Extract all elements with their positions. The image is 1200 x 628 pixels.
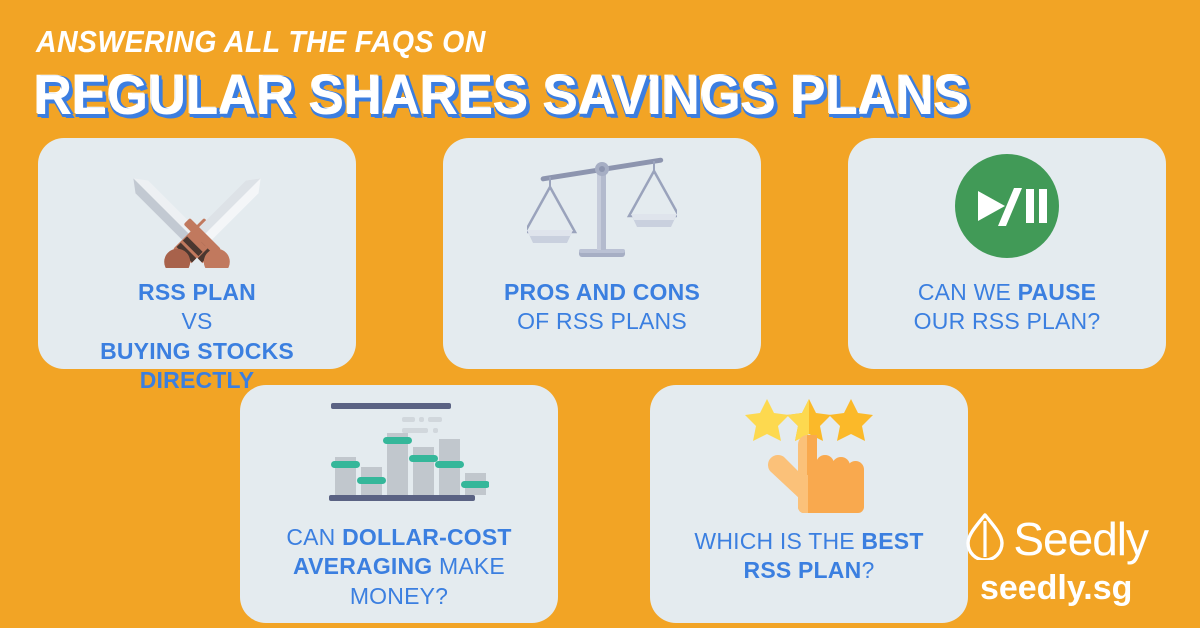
faq-card-rss-vs-stocks[interactable]: RSS PLAN VS BUYING STOCKS DIRECTLY bbox=[38, 138, 356, 369]
faq-card-best-plan[interactable]: WHICH IS THE BEST RSS PLAN? bbox=[650, 385, 968, 623]
card1-line2: VS bbox=[181, 308, 212, 334]
faq-card-label: RSS PLAN VS BUYING STOCKS DIRECTLY bbox=[88, 278, 306, 396]
seedly-leaf-icon bbox=[964, 512, 1006, 565]
card5-line2-emphasis: RSS PLAN bbox=[744, 557, 862, 583]
faq-card-pros-and-cons[interactable]: PROS AND CONS OF RSS PLANS bbox=[443, 138, 761, 369]
eyebrow-text: ANSWERING ALL THE FAQS ON bbox=[36, 24, 486, 60]
faq-card-pause-plan[interactable]: CAN WE PAUSE OUR RSS PLAN? bbox=[848, 138, 1166, 369]
faq-card-label: CAN DOLLAR-COST AVERAGING MAKE MONEY? bbox=[274, 523, 523, 611]
star-2 bbox=[787, 399, 831, 441]
card1-line1: RSS PLAN bbox=[138, 279, 256, 305]
card2-line1: PROS AND CONS bbox=[504, 279, 700, 305]
card4-line3: MONEY? bbox=[350, 583, 448, 609]
card3-line1-prefix: CAN WE bbox=[918, 279, 1018, 305]
card3-line1-emphasis: PAUSE bbox=[1018, 279, 1097, 305]
seedly-wordmark: Seedly bbox=[1013, 516, 1148, 562]
card5-line1-prefix: WHICH IS THE bbox=[694, 528, 861, 554]
play-pause-icon bbox=[948, 150, 1066, 262]
card4-line2-emphasis: AVERAGING bbox=[293, 553, 432, 579]
seedly-logo[interactable]: Seedly seedly.sg bbox=[964, 512, 1148, 610]
seedly-url: seedly.sg bbox=[980, 567, 1132, 610]
faq-card-label: WHICH IS THE BEST RSS PLAN? bbox=[682, 527, 935, 586]
infographic-canvas: ANSWERING ALL THE FAQS ON REGULAR SHARES… bbox=[0, 0, 1200, 628]
card1-line4: DIRECTLY bbox=[140, 367, 255, 393]
card4-line2-suffix: MAKE bbox=[432, 553, 505, 579]
pointing-hand bbox=[768, 435, 864, 513]
faq-card-dollar-cost-averaging[interactable]: CAN DOLLAR-COST AVERAGING MAKE MONEY? bbox=[240, 385, 558, 623]
card5-line1-emphasis: BEST bbox=[861, 528, 923, 554]
star-1 bbox=[745, 399, 789, 441]
card5-line2-suffix: ? bbox=[861, 557, 874, 583]
card4-line1-prefix: CAN bbox=[286, 524, 342, 550]
crossed-swords-icon bbox=[122, 150, 272, 268]
bar-chart-icon bbox=[309, 395, 489, 507]
card3-line2: OUR RSS PLAN? bbox=[914, 308, 1101, 334]
balance-scales-icon bbox=[527, 150, 677, 262]
card1-line3: BUYING STOCKS bbox=[100, 338, 294, 364]
star-3 bbox=[829, 399, 873, 441]
seedly-logo-row: Seedly bbox=[964, 512, 1148, 565]
card4-line1-emphasis: DOLLAR-COST bbox=[342, 524, 512, 550]
page-title: REGULAR SHARES SAVINGS PLANS bbox=[34, 62, 969, 127]
faq-card-label: CAN WE PAUSE OUR RSS PLAN? bbox=[902, 278, 1113, 337]
stars-hand-icon bbox=[734, 395, 884, 513]
card2-line2: OF RSS PLANS bbox=[517, 308, 687, 334]
faq-card-label: PROS AND CONS OF RSS PLANS bbox=[492, 278, 712, 337]
